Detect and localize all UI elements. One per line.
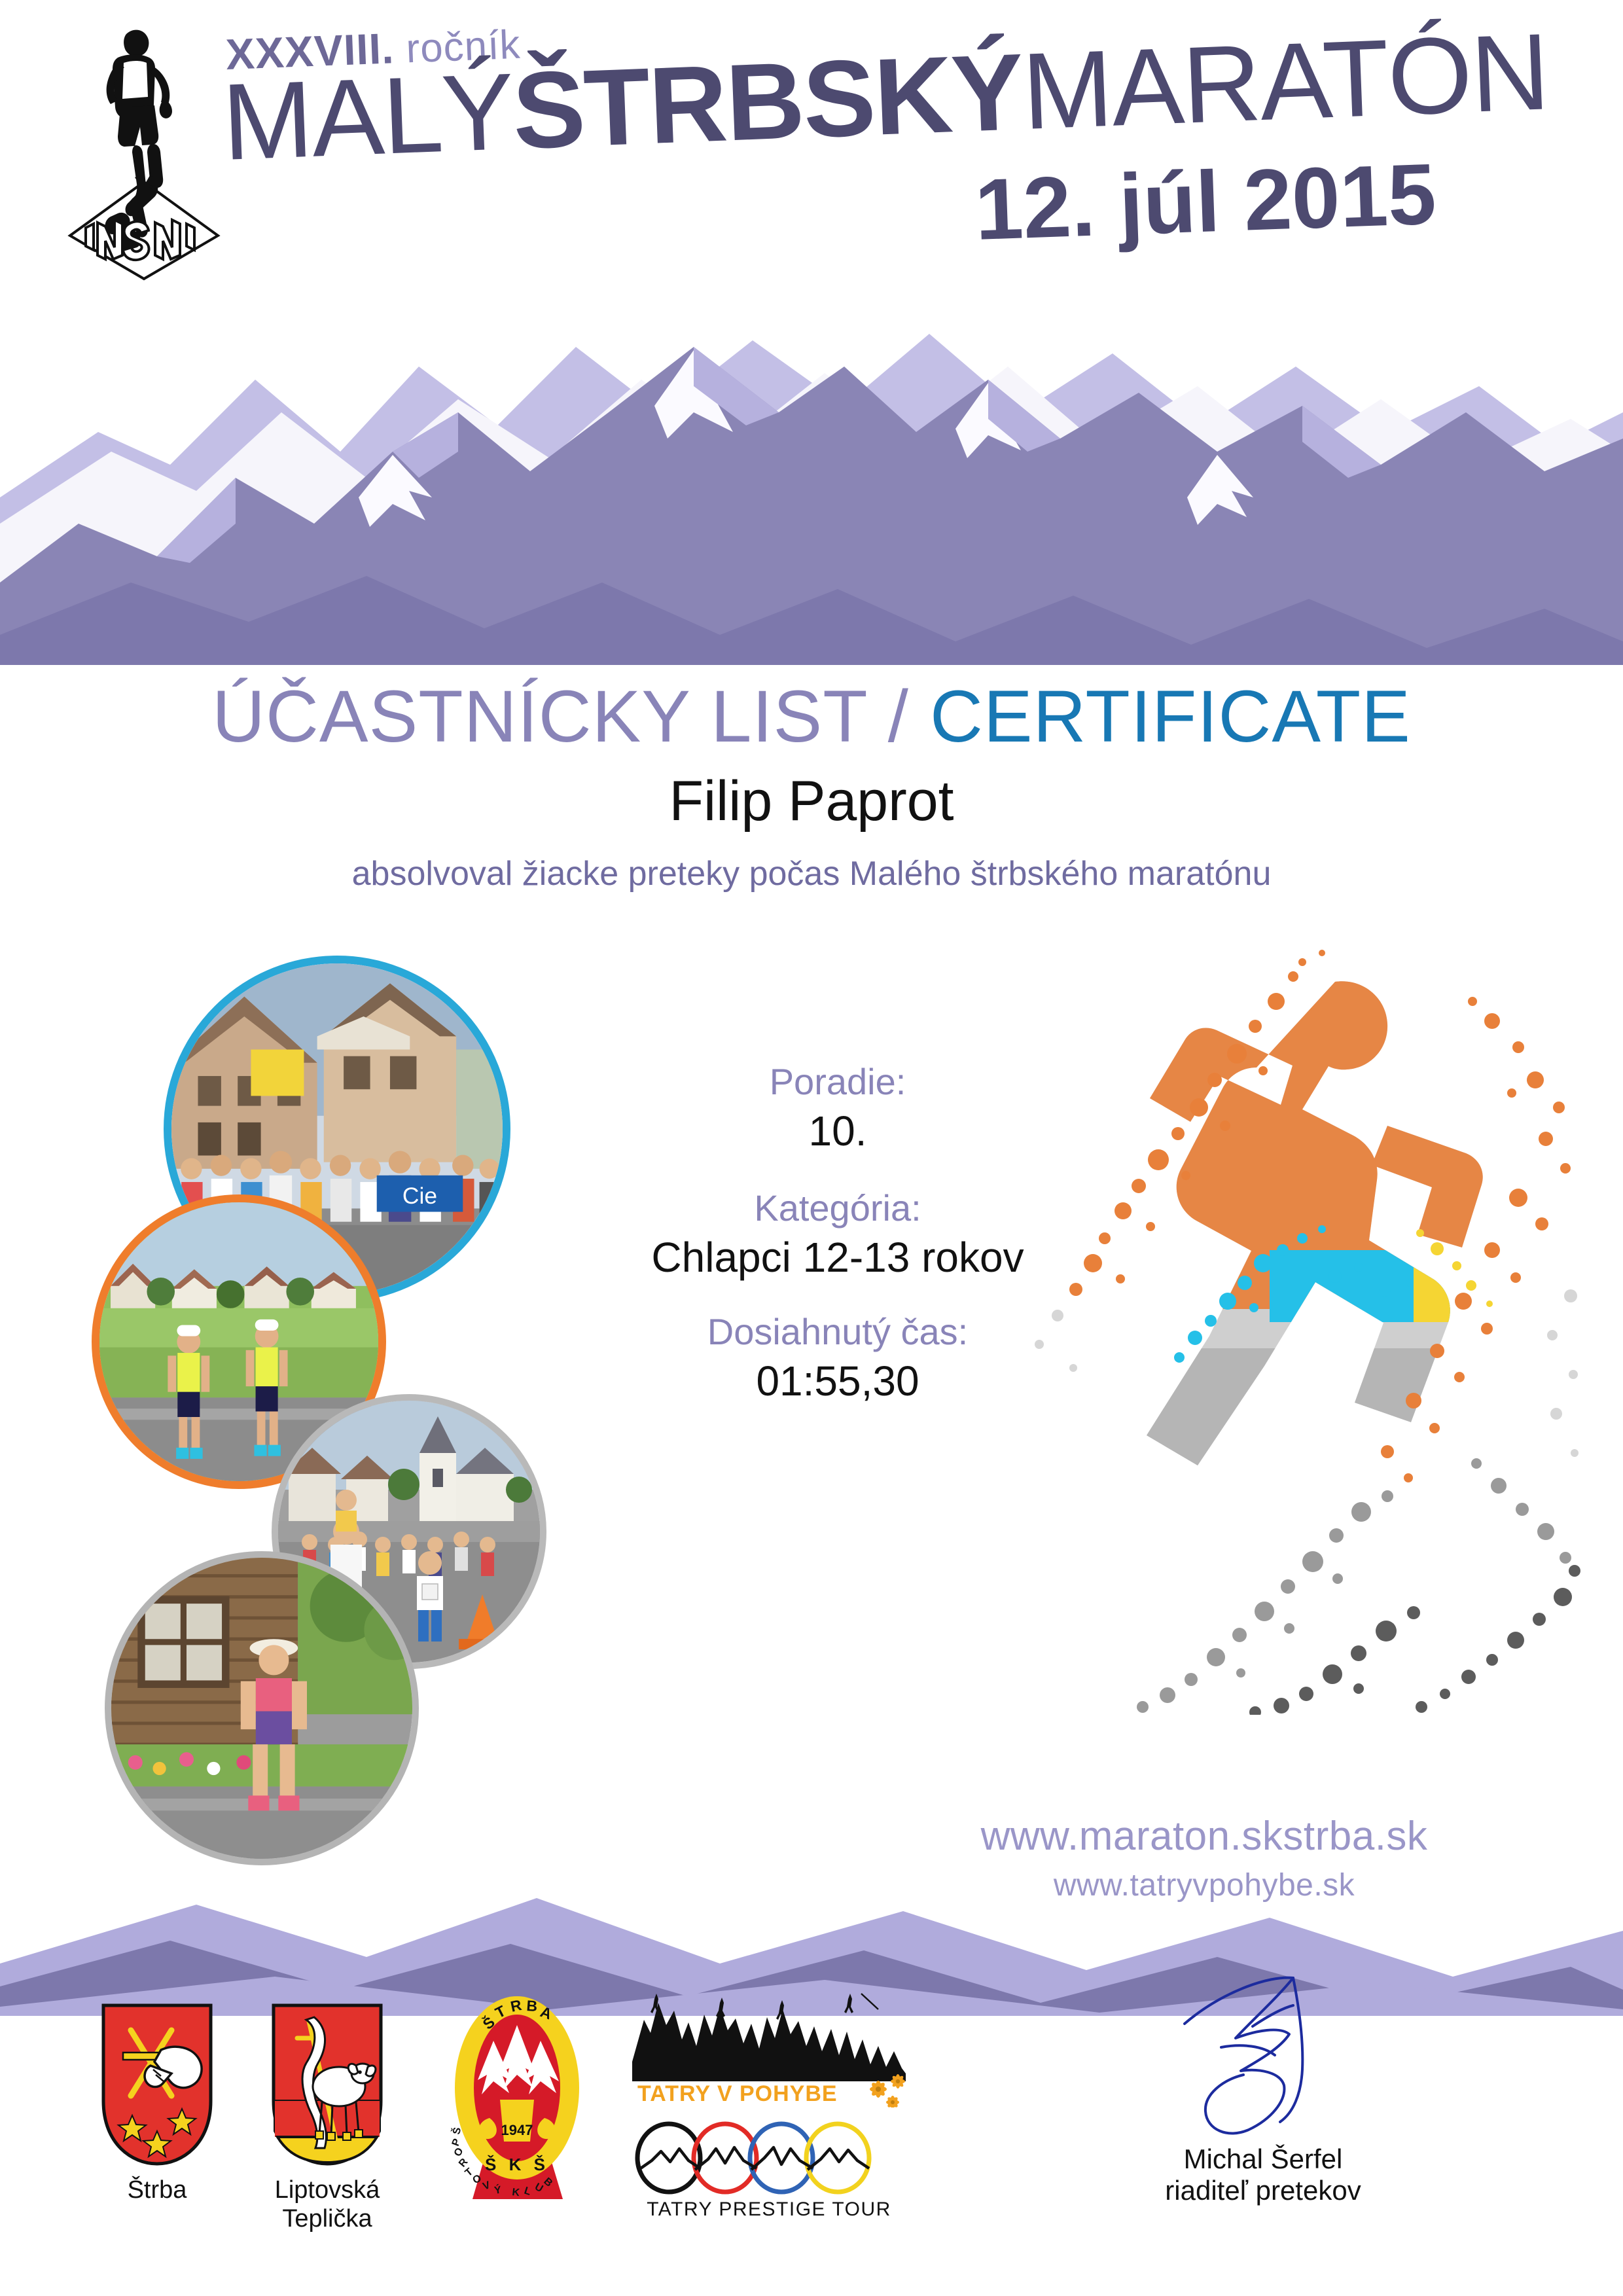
result-place-label: Poradie: (589, 1060, 1086, 1103)
url-primary[interactable]: www.maraton.skstrba.sk (838, 1813, 1571, 1859)
certificate-title-separator: / (888, 675, 909, 757)
photo-runner-cottage (105, 1551, 419, 1865)
sks-initials-text: Š K Š (485, 2155, 549, 2174)
participant-name: Filip Paprot (0, 769, 1623, 834)
svg-text:K: K (511, 2187, 520, 2198)
photo-collage: Cie (85, 936, 641, 1839)
sponsor-tatry-group: TATRY V POHYBE (628, 1983, 910, 2228)
page-header: XXXVIII. ročník MALÝŠTRBSKÝMARATÓN 12. j… (0, 0, 1623, 314)
header-event-date: 12. júl 2015 (974, 151, 1438, 253)
liptovska-teplicka-coat-of-arms-icon (268, 2003, 386, 2166)
strba-coat-of-arms-icon (98, 2003, 216, 2166)
sponsor-strba-caption: Štrba (85, 2176, 229, 2205)
signature-role: riaditeľ pretekov (1060, 2175, 1466, 2206)
certificate-subtitle: absolvoval žiacke preteky počas Malého š… (0, 854, 1623, 893)
handwritten-signature-icon (1158, 1970, 1368, 2140)
sponsor-sks-strba: 1947 Š K Š Š T R B A Š P O R T O V Ý K (438, 1990, 596, 2209)
result-place: Poradie: 10. (589, 1060, 1086, 1155)
sponsor-liptovska-teplicka-caption: Liptovská Teplička (242, 2176, 412, 2233)
title-maraton: MARATÓN (1020, 11, 1550, 152)
title-strbsky: ŠTRBSKÝ (510, 31, 1025, 172)
svg-text:O: O (452, 2146, 465, 2159)
msm-logo (56, 20, 232, 281)
result-time: Dosiahnutý čas: 01:55,30 (589, 1310, 1086, 1405)
sponsor-liptovska-teplicka: Liptovská Teplička (242, 2003, 412, 2233)
date-day: 12. júl (973, 153, 1221, 258)
website-links: www.maraton.skstrba.sk www.tatryvpohybe.… (838, 1813, 1571, 1903)
sks-year-text: 1947 (501, 2122, 533, 2138)
sks-strba-logo-icon: 1947 Š K Š Š T R B A Š P O R T O V Ý K (444, 1990, 591, 2206)
result-category-value: Chlapci 12-13 rokov (589, 1233, 1086, 1282)
result-category: Kategória: Chlapci 12-13 rokov (589, 1187, 1086, 1282)
results-block: Poradie: 10. Kategória: Chlapci 12-13 ro… (589, 1060, 1086, 1437)
signature-name: Michal Šerfel (1060, 2144, 1466, 2175)
url-secondary[interactable]: www.tatryvpohybe.sk (838, 1867, 1571, 1903)
certificate-title-en: CERTIFICATE (930, 675, 1411, 757)
sponsor-row: Štrba (0, 1983, 1623, 2291)
result-time-value: 01:55,30 (589, 1357, 1086, 1405)
result-place-value: 10. (589, 1107, 1086, 1155)
svg-text:Cie: Cie (402, 1183, 437, 1209)
tatry-v-pohybe-logo-icon: TATRY V POHYBE (628, 1983, 910, 2108)
tatry-v-pohybe-text: TATRY V POHYBE (637, 2081, 838, 2106)
date-year: 2015 (1242, 145, 1438, 248)
tatry-prestige-tour-text: TATRY PRESTIGE TOUR (647, 2198, 891, 2220)
result-time-label: Dosiahnutý čas: (589, 1310, 1086, 1353)
tatry-prestige-tour-logo-icon: TATRY PRESTIGE TOUR (628, 2120, 910, 2225)
result-category-label: Kategória: (589, 1187, 1086, 1229)
certificate-title-sk: ÚČASTNÍCKY LIST (212, 675, 866, 757)
sponsor-strba: Štrba (85, 2003, 229, 2205)
svg-text:B: B (526, 1997, 537, 2015)
title-maly: MALÝ (220, 51, 515, 183)
svg-text:P: P (450, 2137, 463, 2147)
signature-block: Michal Šerfel riaditeľ pretekov (1060, 1970, 1466, 2206)
certificate-title: ÚČASTNÍCKY LIST / CERTIFICATE (0, 674, 1623, 759)
